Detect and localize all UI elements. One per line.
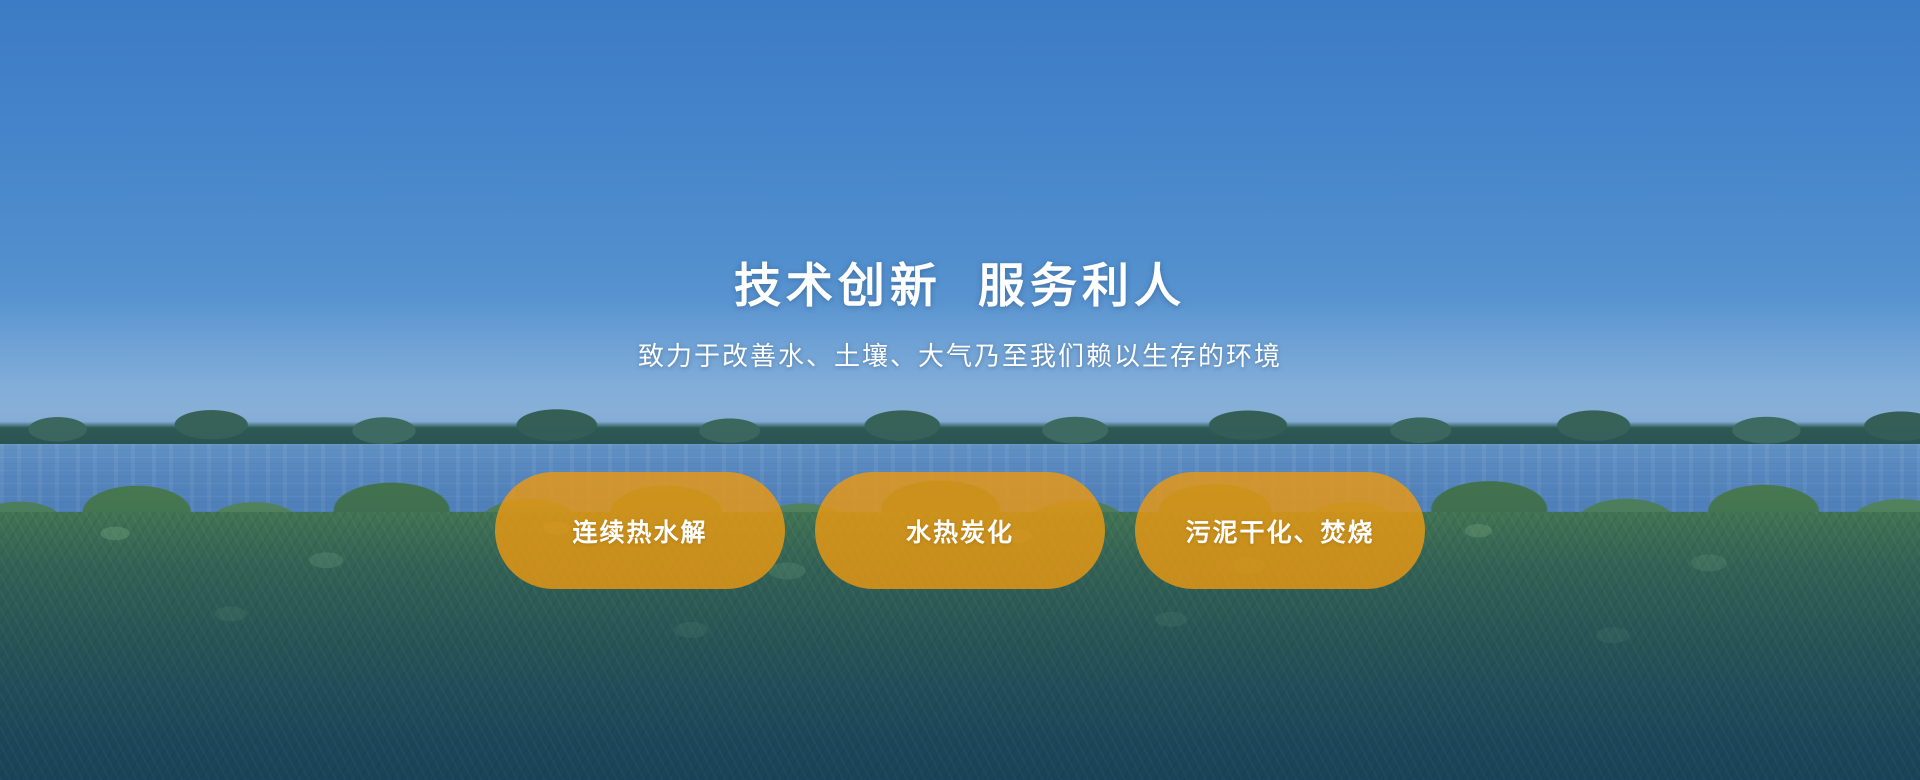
- service-button-sludge-drying-incineration[interactable]: 污泥干化、焚烧: [1135, 472, 1425, 589]
- hero-content: 技术创新 服务利人 致力于改善水、土壤、大气乃至我们赖以生存的环境 连续热水解 …: [0, 0, 1920, 780]
- hero-banner: 技术创新 服务利人 致力于改善水、土壤、大气乃至我们赖以生存的环境 连续热水解 …: [0, 0, 1920, 780]
- service-button-hydrothermal-carbonization[interactable]: 水热炭化: [815, 472, 1105, 589]
- service-button-continuous-thermal-hydrolysis[interactable]: 连续热水解: [495, 472, 785, 589]
- hero-subheadline: 致力于改善水、土壤、大气乃至我们赖以生存的环境: [0, 340, 1920, 374]
- hero-headline: 技术创新 服务利人: [0, 258, 1920, 313]
- service-button-row: 连续热水解 水热炭化 污泥干化、焚烧: [0, 472, 1920, 589]
